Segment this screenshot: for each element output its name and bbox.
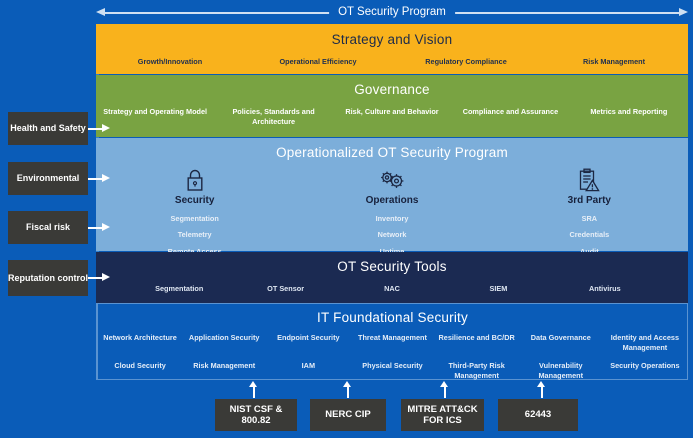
padlock-icon <box>96 167 293 193</box>
pillar-name-3rd-party: 3rd Party <box>491 195 688 206</box>
callout-health-and-safety: Health and Safety <box>8 112 88 145</box>
pillar-item: SRA <box>491 214 688 223</box>
standard-mitre-attack-for-ics: MITRE ATT&CK FOR ICS <box>401 399 484 431</box>
callout-fiscal-risk: Fiscal risk <box>8 211 88 244</box>
layer-title-strategy: Strategy and Vision <box>96 32 688 47</box>
callout-reputation-control: Reputation control <box>8 260 88 296</box>
it-foundational-item: Threat Management <box>350 333 434 352</box>
layer-operationalized-ot-security-program: Operationalized OT Security Program Secu… <box>96 138 688 251</box>
callout-label: Environmental <box>17 173 80 184</box>
it-foundational-item: Cloud Security <box>98 361 182 380</box>
callout-arrow-environmental <box>88 174 110 183</box>
layer-title-governance: Governance <box>96 82 688 97</box>
pillar-name-operations: Operations <box>293 195 490 206</box>
layer-strategy-and-vision: Strategy and Vision Growth/Innovation Op… <box>96 24 688 74</box>
it-foundational-row-2: Cloud Security Risk Management IAM Physi… <box>98 361 687 380</box>
callout-label: Fiscal risk <box>26 222 70 233</box>
callout-arrow-fiscal-risk <box>88 223 110 232</box>
standard-label: 62443 <box>525 409 551 421</box>
callout-arrow-reputation-control <box>88 273 110 282</box>
callout-arrow-health-and-safety <box>88 124 110 133</box>
it-foundational-item: Application Security <box>182 333 266 352</box>
pillar-item: Segmentation <box>96 214 293 223</box>
arrow-head <box>102 273 110 281</box>
tools-item: SIEM <box>445 284 551 294</box>
operationalized-pillars: Security Segmentation Telemetry Remote A… <box>96 167 688 256</box>
arrow-line <box>444 385 446 398</box>
arrow-line <box>88 178 103 180</box>
callout-environmental: Environmental <box>8 162 88 195</box>
tools-items-row: Segmentation OT Sensor NAC SIEM Antiviru… <box>96 274 688 294</box>
standard-label: NIST CSF & 800.82 <box>215 404 297 427</box>
strategy-item: Operational Efficiency <box>244 57 392 67</box>
it-foundational-item: Vulnerability Management <box>519 361 603 380</box>
it-foundational-item: Data Governance <box>519 333 603 352</box>
callout-label: Health and Safety <box>10 123 86 134</box>
standard-label: MITRE ATT&CK FOR ICS <box>401 404 484 427</box>
governance-item: Strategy and Operating Model <box>96 107 214 126</box>
pillar-item: Inventory <box>293 214 490 223</box>
arrow-line <box>88 277 103 279</box>
standard-arrow-mitre <box>440 381 449 398</box>
it-foundational-item: Network Architecture <box>98 333 182 352</box>
standard-label: NERC CIP <box>325 409 370 421</box>
governance-item: Metrics and Reporting <box>570 107 688 126</box>
it-foundational-item: Physical Security <box>350 361 434 380</box>
standard-arrow-nist <box>249 381 258 398</box>
strategy-item: Growth/Innovation <box>96 57 244 67</box>
governance-item: Compliance and Assurance <box>451 107 569 126</box>
standard-nerc-cip: NERC CIP <box>310 399 386 431</box>
standard-62443: 62443 <box>498 399 578 431</box>
strategy-item: Risk Management <box>540 57 688 67</box>
pillar-item: Network <box>293 230 490 239</box>
tools-item: Segmentation <box>126 284 232 294</box>
pillar-item: Credentials <box>491 230 688 239</box>
pillar-3rd-party: 3rd Party SRA Credentials Audit <box>491 167 688 256</box>
tools-item: Antivirus <box>552 284 658 294</box>
clipboard-warning-icon <box>491 167 688 193</box>
ot-security-program-diagram: OT Security Program Strategy and Vision … <box>0 0 693 438</box>
layer-title-tools: OT Security Tools <box>96 259 688 274</box>
it-foundational-item: Risk Management <box>182 361 266 380</box>
arrow-head <box>102 223 110 231</box>
strategy-item: Regulatory Compliance <box>392 57 540 67</box>
pillar-security: Security Segmentation Telemetry Remote A… <box>96 167 293 256</box>
span-arrowhead-right <box>679 8 688 16</box>
tools-item: NAC <box>339 284 445 294</box>
governance-items-row: Strategy and Operating Model Policies, S… <box>96 97 688 126</box>
program-span-arrow: OT Security Program <box>96 4 688 22</box>
arrow-head <box>102 124 110 132</box>
arrow-line <box>88 128 103 130</box>
arrow-line <box>88 227 103 229</box>
standard-nist-csf-800-82: NIST CSF & 800.82 <box>215 399 297 431</box>
program-span-label: OT Security Program <box>329 3 455 22</box>
layer-it-foundational-security: IT Foundational Security Network Archite… <box>96 303 688 380</box>
it-foundational-item: Endpoint Security <box>266 333 350 352</box>
pillar-item: Telemetry <box>96 230 293 239</box>
pillar-name-security: Security <box>96 195 293 206</box>
pillar-operations: Operations Inventory Network Uptime <box>293 167 490 256</box>
layer-governance: Governance Strategy and Operating Model … <box>96 75 688 137</box>
layer-title-it-foundational: IT Foundational Security <box>98 310 687 325</box>
span-arrowhead-left <box>96 8 105 16</box>
it-foundational-item: Identity and Access Management <box>603 333 687 352</box>
it-foundational-item: Third-Party Risk Management <box>435 361 519 380</box>
gears-icon <box>293 167 490 193</box>
it-foundational-row-1: Network Architecture Application Securit… <box>98 333 687 352</box>
layer-title-operationalized: Operationalized OT Security Program <box>96 145 688 160</box>
it-foundational-item: Resilience and BC/DR <box>435 333 519 352</box>
it-foundational-item: IAM <box>266 361 350 380</box>
tools-item: OT Sensor <box>232 284 338 294</box>
arrow-line <box>253 385 255 398</box>
arrow-head <box>102 174 110 182</box>
governance-item: Policies, Standards and Architecture <box>214 107 332 126</box>
callout-label: Reputation control <box>8 273 88 284</box>
governance-item: Risk, Culture and Behavior <box>333 107 451 126</box>
layer-ot-security-tools: OT Security Tools Segmentation OT Sensor… <box>96 252 688 303</box>
strategy-items-row: Growth/Innovation Operational Efficiency… <box>96 47 688 67</box>
standard-arrow-62443 <box>537 381 546 398</box>
arrow-line <box>347 385 349 398</box>
arrow-line <box>541 385 543 398</box>
it-foundational-item: Security Operations <box>603 361 687 380</box>
standard-arrow-nerc <box>343 381 352 398</box>
